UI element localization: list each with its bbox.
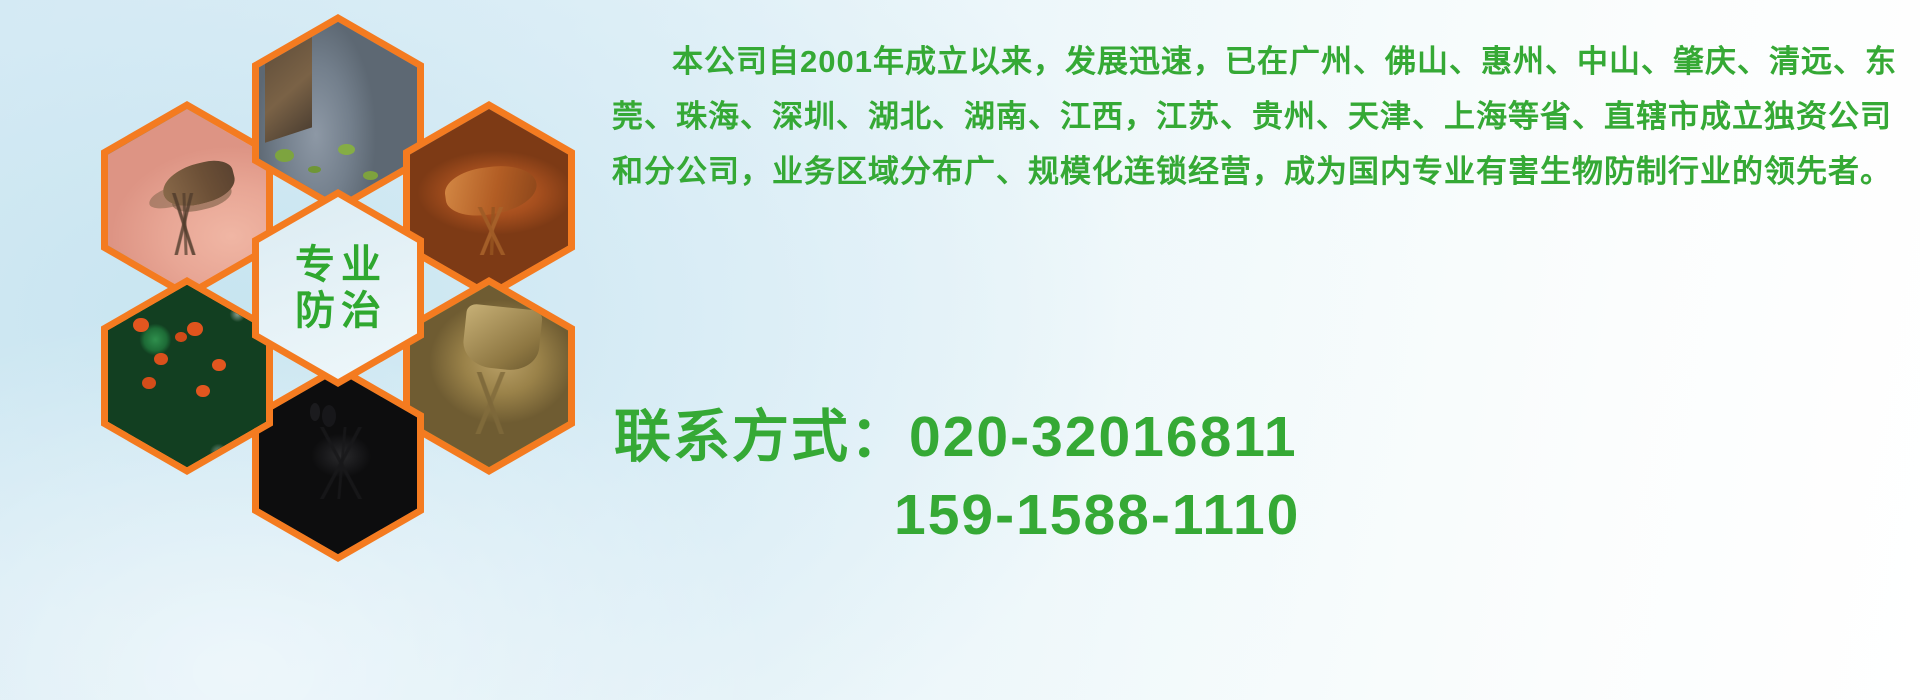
hex-cell-mosquito[interactable] <box>101 101 273 299</box>
contact-block: 联系方式：020-32016811 159-1588-1110 <box>614 398 1914 554</box>
honeycomb-gallery: 专业 防治 <box>78 8 598 568</box>
promo-banner: 专业 防治 本公司自2001年成立以来，发展迅速，已在广州、佛山、惠州、中山、肇… <box>0 0 1920 700</box>
hex-cell-rats[interactable] <box>252 14 424 212</box>
company-intro: 本公司自2001年成立以来，发展迅速，已在广州、佛山、惠州、中山、肇庆、清远、东… <box>612 34 1902 199</box>
rats-photo <box>259 22 417 204</box>
flies-image <box>108 285 266 467</box>
hex-cell-flies[interactable] <box>101 277 273 475</box>
cockroach-image <box>410 109 568 291</box>
cockroach-photo <box>410 109 568 291</box>
slogan-panel: 专业 防治 <box>259 197 417 379</box>
ant-photo <box>259 372 417 554</box>
mosquito-image <box>108 109 266 291</box>
slogan-line-1: 专业 <box>289 242 387 288</box>
mosquito-photo <box>108 109 266 291</box>
contact-line-primary[interactable]: 联系方式：020-32016811 <box>614 398 1914 476</box>
intro-paragraph: 本公司自2001年成立以来，发展迅速，已在广州、佛山、惠州、中山、肇庆、清远、东… <box>612 34 1902 199</box>
ant-image <box>259 372 417 554</box>
shield-bug-photo <box>410 285 568 467</box>
hex-cell-slogan: 专业 防治 <box>252 189 424 387</box>
hex-cell-cockroach[interactable] <box>403 101 575 299</box>
hex-cell-shield-bug[interactable] <box>403 277 575 475</box>
contact-line-secondary[interactable]: 159-1588-1110 <box>614 476 1914 554</box>
slogan-line-2: 防治 <box>289 288 387 334</box>
shield-bug-image <box>410 285 568 467</box>
flies-photo <box>108 285 266 467</box>
hex-cell-ant[interactable] <box>252 364 424 562</box>
rats-image <box>259 22 417 204</box>
